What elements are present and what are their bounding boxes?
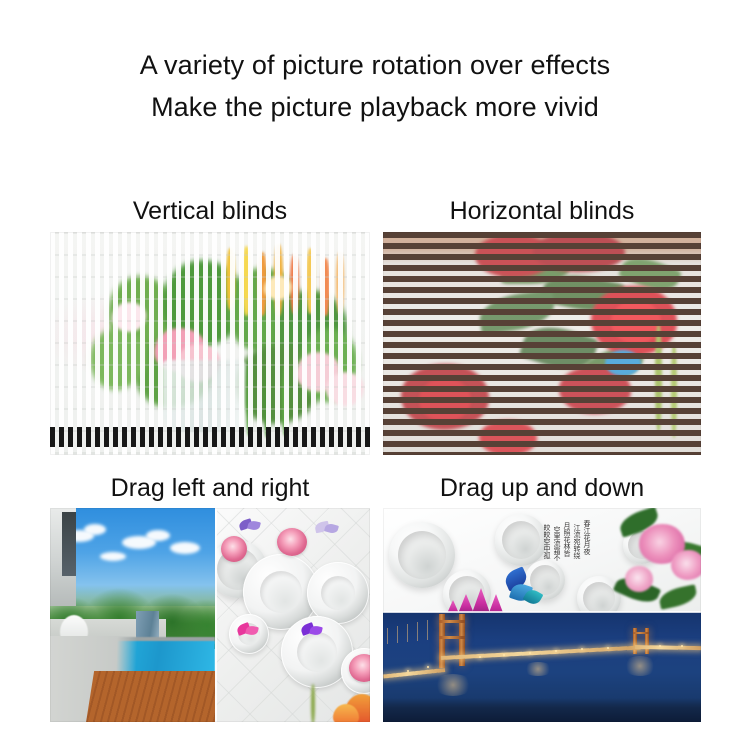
- preview-drag-up-down[interactable]: 春江花月夜 江流宛转绕 月照花林皆 空里流霜不 皎皎空中孤: [383, 508, 701, 722]
- vertical-blind-dark-band: [50, 427, 370, 447]
- butterfly-icon: [315, 522, 339, 536]
- butterfly-icon: [301, 624, 323, 638]
- calligraphy-column-3: 月照花林皆: [563, 522, 571, 586]
- vertical-blind-slats: [50, 232, 370, 455]
- horizontal-blind-slats: [383, 232, 701, 455]
- promo-page: A variety of picture rotation over effec…: [0, 0, 750, 750]
- butterfly-icon: [237, 624, 259, 638]
- calligraphy-column-4: 空里流霜不: [553, 526, 561, 586]
- caption-vertical-blinds: Vertical blinds: [50, 197, 370, 226]
- preview-drag-left-right[interactable]: [50, 508, 370, 722]
- butterfly-icon: [505, 570, 545, 606]
- calligraphy-column-1: 春江花月夜: [583, 520, 591, 586]
- caption-drag-up-down: Drag up and down: [383, 474, 701, 503]
- calligraphy-column-2: 江流宛转绕: [573, 524, 581, 586]
- headline-primary: A variety of picture rotation over effec…: [0, 50, 750, 81]
- preview-horizontal-blinds[interactable]: [383, 232, 701, 455]
- preview-vertical-blinds[interactable]: [50, 232, 370, 455]
- rings-mural-half: [215, 508, 370, 722]
- drag-seam-horizontal[interactable]: [383, 611, 701, 613]
- drag-seam-vertical[interactable]: [215, 508, 217, 722]
- butterfly-icon: [239, 520, 261, 534]
- pool-photo-half: [50, 508, 215, 722]
- caption-drag-left-right: Drag left and right: [50, 474, 370, 503]
- sphere-mural-half: 春江花月夜 江流宛转绕 月照花林皆 空里流霜不 皎皎空中孤: [383, 508, 701, 612]
- headline-secondary: Make the picture playback more vivid: [0, 92, 750, 123]
- calligraphy-column-5: 皎皎空中孤: [543, 524, 551, 586]
- bridge-photo-half: [383, 612, 701, 722]
- caption-horizontal-blinds: Horizontal blinds: [383, 197, 701, 226]
